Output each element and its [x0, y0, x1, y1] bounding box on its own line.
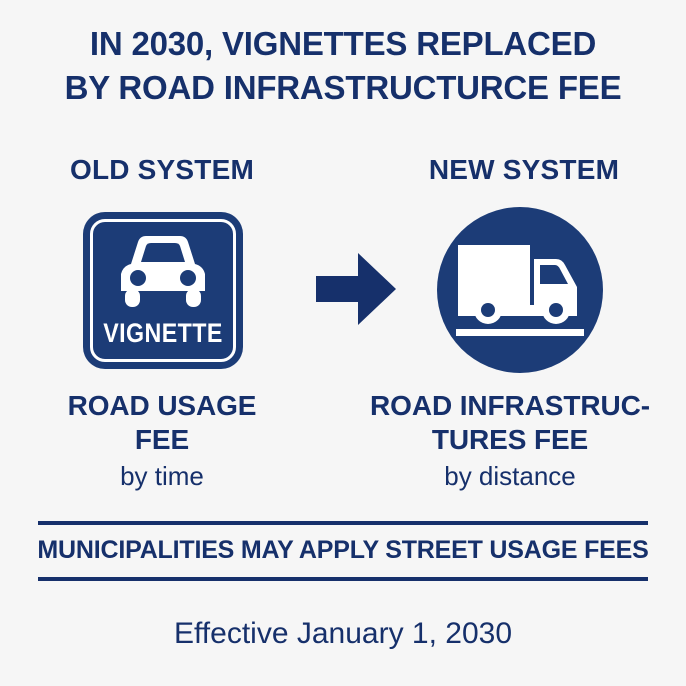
old-system-heading: OLD SYSTEM [12, 153, 312, 187]
banner-rule-bottom [38, 577, 648, 581]
vignette-label: VIGNETTE [94, 319, 232, 347]
truck-icon [456, 243, 584, 339]
arrow-right-icon [316, 250, 396, 328]
old-caption-line-1: ROAD USAGE [12, 389, 312, 423]
new-caption-sub: by distance [345, 460, 675, 492]
new-system-heading: NEW SYSTEM [374, 153, 674, 187]
car-front-icon [111, 234, 215, 308]
page-title: IN 2030, VIGNETTES REPLACED BY ROAD INFR… [0, 22, 686, 110]
new-caption-line-2: TURES FEE [345, 423, 675, 457]
old-caption-sub: by time [12, 460, 312, 492]
effective-date-text: Effective January 1, 2030 [0, 615, 686, 653]
banner-rule-top [38, 521, 648, 525]
old-caption-line-2: FEE [12, 423, 312, 457]
infographic-root: IN 2030, VIGNETTES REPLACED BY ROAD INFR… [0, 0, 686, 686]
municipal-banner-text: MUNICIPALITIES MAY APPLY STREET USAGE FE… [0, 533, 686, 567]
vignette-sticker-icon: VIGNETTE [83, 212, 243, 369]
new-caption-line-1: ROAD INFRASTRUC- [345, 389, 675, 423]
new-system-caption: ROAD INFRASTRUC- TURES FEE by distance [345, 389, 675, 492]
truck-circle-icon [437, 207, 603, 373]
title-line-2: BY ROAD INFRASTRUCTURCE FEE [0, 66, 686, 110]
old-system-caption: ROAD USAGE FEE by time [12, 389, 312, 492]
title-line-1: IN 2030, VIGNETTES REPLACED [0, 22, 686, 66]
